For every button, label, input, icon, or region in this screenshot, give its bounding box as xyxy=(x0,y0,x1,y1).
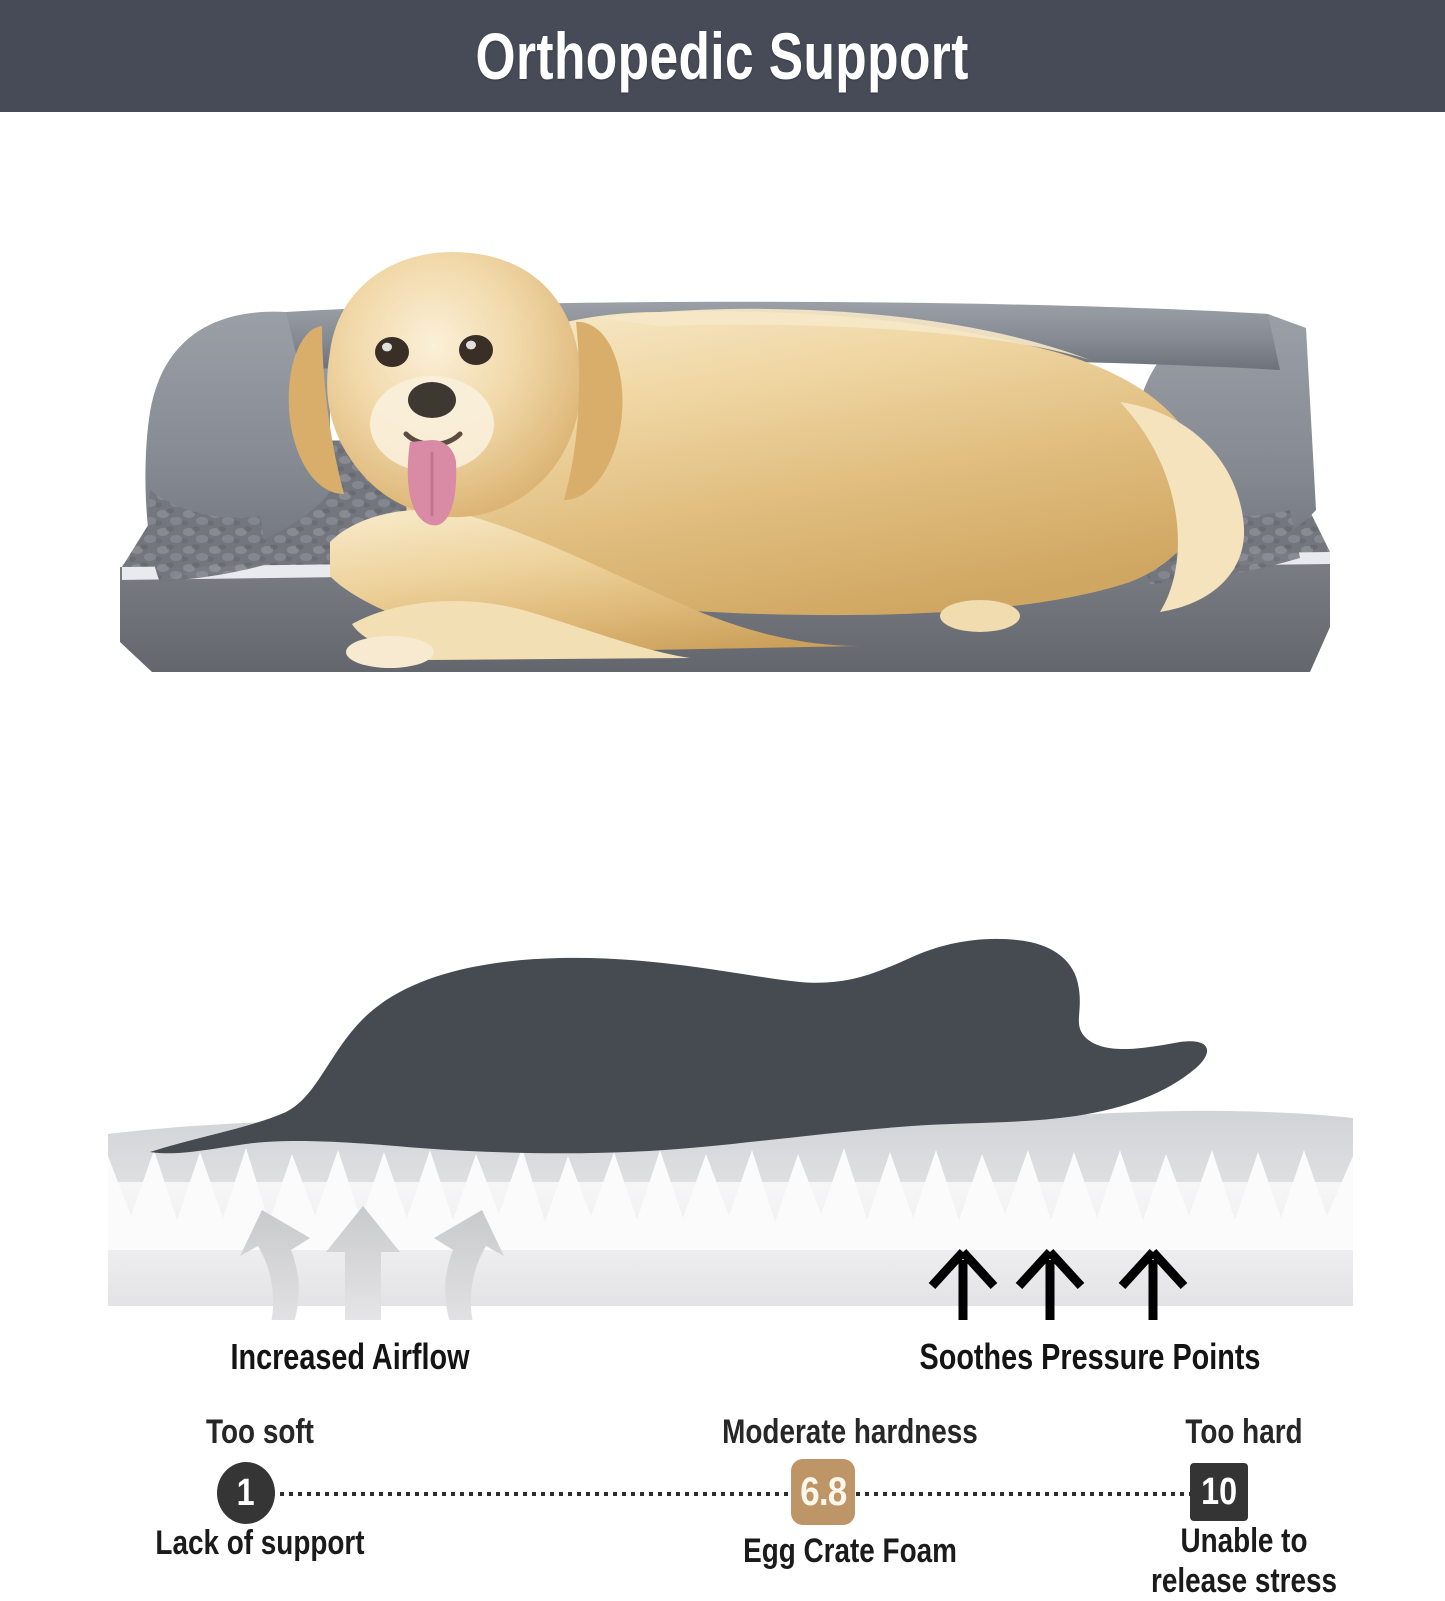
caption-increased-airflow: Increased Airflow xyxy=(70,1337,630,1377)
scale-caption-egg-crate-foam: Egg Crate Foam xyxy=(579,1531,1120,1571)
scale-connector-line xyxy=(262,1492,1194,1496)
dog-on-bed-illustration xyxy=(0,112,1445,687)
scale-label-too-soft: Too soft xyxy=(47,1413,473,1451)
scale-caption-unable-to-release-stress: Unable to release stress xyxy=(1072,1521,1416,1601)
scale-caption-lack-of-support: Lack of support xyxy=(47,1523,473,1563)
product-infographic: Orthopedic Support xyxy=(0,0,1445,1391)
scale-label-too-hard: Too hard xyxy=(1072,1413,1416,1451)
scale-badge-10: 10 xyxy=(1190,1463,1248,1521)
hardness-scale: Too soft Moderate hardness Too hard 1 6.… xyxy=(0,700,1445,900)
scale-caption-unable-line1: Unable to xyxy=(1072,1521,1416,1561)
scale-badge-1: 1 xyxy=(217,1462,275,1524)
scale-badge-1-value: 1 xyxy=(237,1472,255,1515)
hero-product-photo xyxy=(0,112,1445,687)
scale-label-moderate-hardness: Moderate hardness xyxy=(579,1413,1120,1451)
foam-cross-section-illustration xyxy=(0,920,1445,1320)
page-title: Orthopedic Support xyxy=(476,23,969,89)
egg-crate-foam-diagram xyxy=(0,920,1445,1320)
scale-badge-6-8: 6.8 xyxy=(791,1459,855,1525)
scale-caption-unable-line2: release stress xyxy=(1072,1561,1416,1601)
caption-soothes-pressure-points: Soothes Pressure Points xyxy=(810,1337,1370,1377)
header-banner: Orthopedic Support xyxy=(0,0,1445,112)
scale-badge-6-8-value: 6.8 xyxy=(800,1470,846,1515)
scale-badge-10-value: 10 xyxy=(1201,1471,1237,1514)
